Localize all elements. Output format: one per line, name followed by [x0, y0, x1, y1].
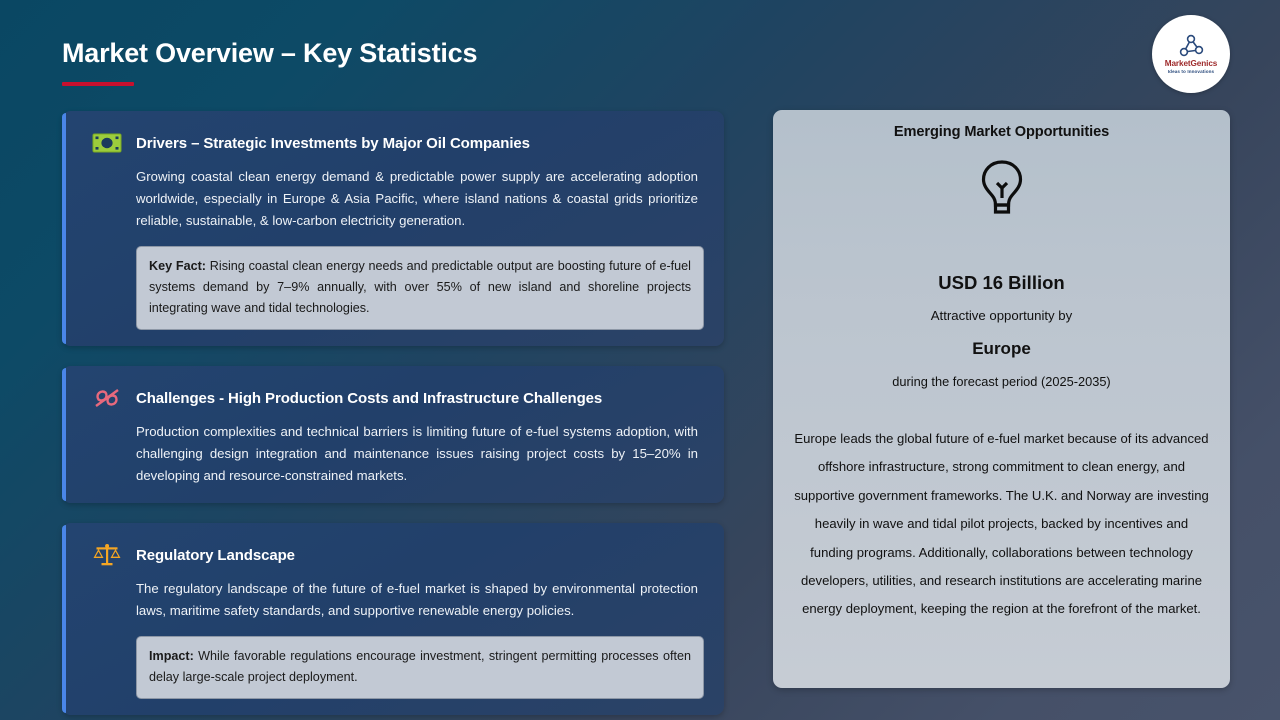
- balance-scales-icon: [90, 540, 124, 570]
- lightbulb-icon: [789, 158, 1214, 220]
- impact-text: While favorable regulations encourage in…: [149, 649, 691, 684]
- card-header: Drivers – Strategic Investments by Major…: [90, 128, 704, 158]
- slide-root: Market Overview – Key Statistics MarketG…: [0, 0, 1280, 720]
- stat-subtitle: Attractive opportunity by: [789, 308, 1214, 323]
- emerging-opportunities-panel: Emerging Market Opportunities USD 16 Bil…: [773, 110, 1230, 688]
- key-fact-label: Key Fact:: [149, 259, 206, 273]
- stat-region: Europe: [789, 339, 1214, 359]
- key-fact-text: Rising coastal clean energy needs and pr…: [149, 259, 691, 315]
- card-challenges: Challenges - High Production Costs and I…: [62, 366, 724, 503]
- insight-cards-column: Drivers – Strategic Investments by Major…: [62, 111, 724, 720]
- title-underline-rule: [62, 82, 134, 86]
- card-title: Regulatory Landscape: [136, 547, 295, 564]
- broken-link-icon: [90, 383, 124, 413]
- card-header: Regulatory Landscape: [90, 540, 704, 570]
- node-graph-icon: [1176, 33, 1206, 59]
- money-banknote-icon: [90, 128, 124, 158]
- panel-description: Europe leads the global future of e-fuel…: [789, 425, 1214, 624]
- card-title: Drivers – Strategic Investments by Major…: [136, 135, 530, 152]
- key-fact-box: Key Fact: Rising coastal clean energy ne…: [136, 246, 704, 330]
- card-body-text: Growing coastal clean energy demand & pr…: [90, 166, 704, 232]
- card-body-text: The regulatory landscape of the future o…: [90, 578, 704, 622]
- card-drivers: Drivers – Strategic Investments by Major…: [62, 111, 724, 346]
- card-header: Challenges - High Production Costs and I…: [90, 383, 704, 413]
- card-body-text: Production complexities and technical ba…: [90, 421, 704, 487]
- logo-name: MarketGenics: [1165, 60, 1218, 68]
- page-title-block: Market Overview – Key Statistics: [62, 38, 477, 86]
- brand-logo: MarketGenics Ideas to Innovations: [1152, 15, 1230, 93]
- card-regulatory: Regulatory Landscape The regulatory land…: [62, 523, 724, 715]
- impact-label: Impact:: [149, 649, 194, 663]
- card-title: Challenges - High Production Costs and I…: [136, 390, 602, 407]
- stat-value: USD 16 Billion: [789, 272, 1214, 294]
- panel-title: Emerging Market Opportunities: [789, 124, 1214, 140]
- impact-box: Impact: While favorable regulations enco…: [136, 636, 704, 699]
- logo-tagline: Ideas to Innovations: [1168, 70, 1214, 75]
- stat-forecast-period: during the forecast period (2025-2035): [789, 374, 1214, 389]
- page-title: Market Overview – Key Statistics: [62, 38, 477, 69]
